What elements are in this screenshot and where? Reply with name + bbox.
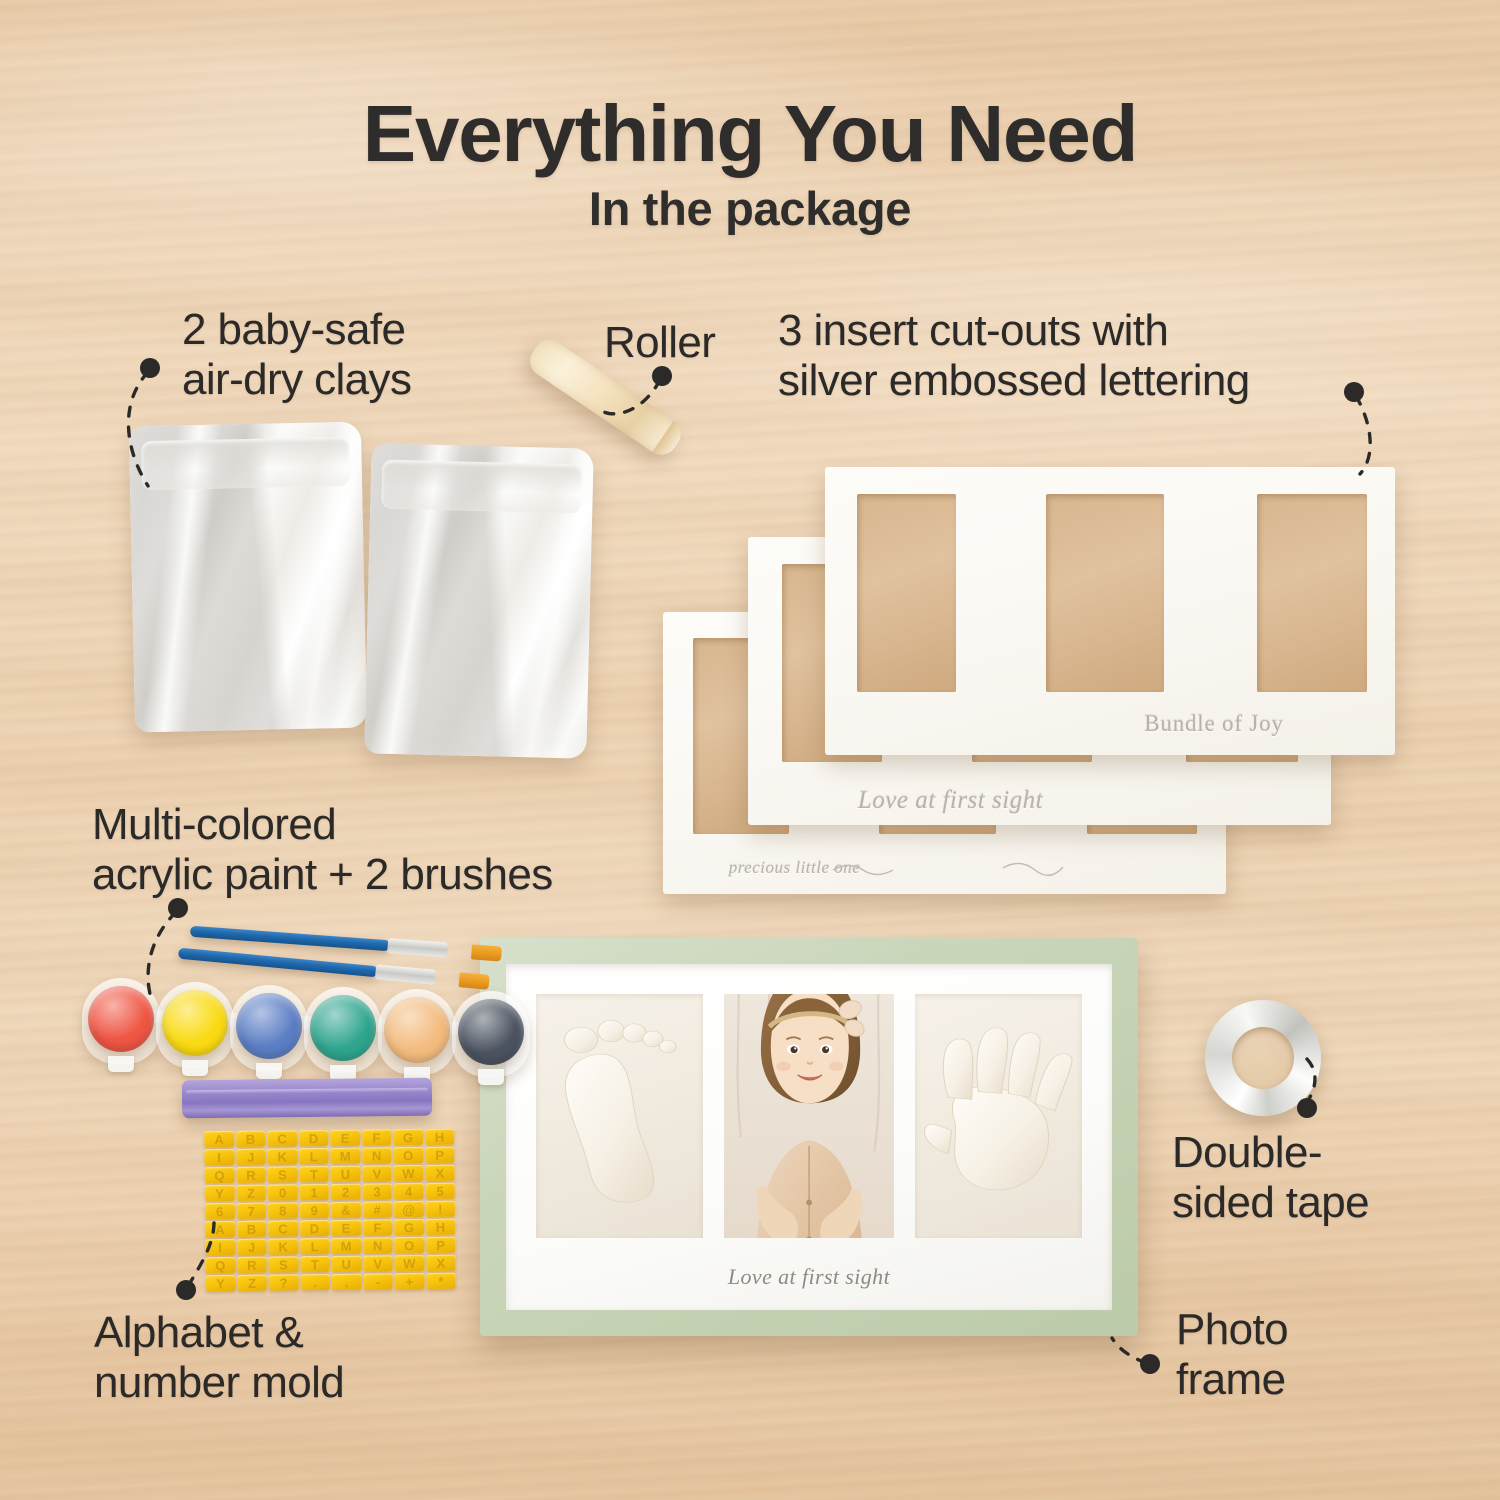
infographic-canvas: Everything You Need In the package preci… [0,0,1500,1500]
pointer-frame-dot [1140,1354,1160,1374]
